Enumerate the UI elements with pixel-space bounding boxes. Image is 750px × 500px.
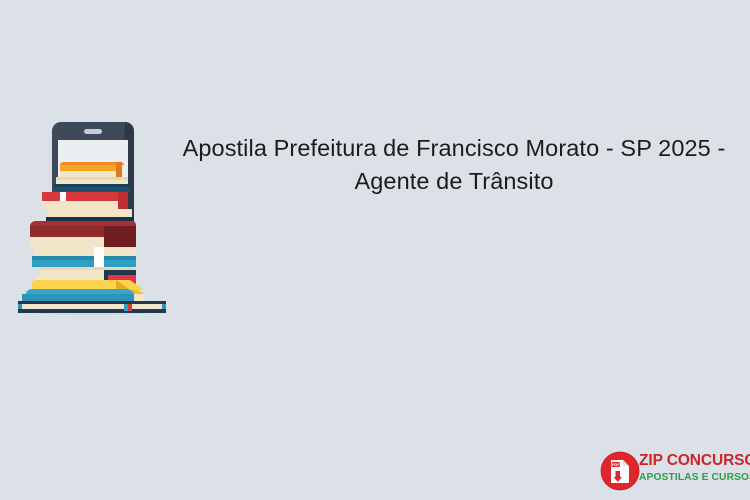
book-red-3 xyxy=(42,192,128,209)
logo-wordmark: ZIP CONCURSOS APOSTILAS E CURSOS xyxy=(639,452,745,484)
zip-concursos-logo[interactable]: PDF ZIP CONCURSOS APOSTILAS E CURSOS xyxy=(600,450,744,492)
pdf-download-icon: PDF xyxy=(600,451,640,491)
product-banner: Apostila Prefeitura de Francisco Morato … xyxy=(0,0,750,500)
book-blue-bottom xyxy=(18,289,166,313)
banner-title-block: Apostila Prefeitura de Francisco Morato … xyxy=(176,132,732,198)
logo-subtitle: APOSTILAS E CURSOS xyxy=(639,471,745,484)
stack-of-books-illustration xyxy=(8,118,176,318)
logo-title: ZIP CONCURSOS xyxy=(639,452,745,470)
svg-text:PDF: PDF xyxy=(612,462,620,467)
book-teal-6 xyxy=(32,247,136,267)
page-title: Apostila Prefeitura de Francisco Morato … xyxy=(176,132,732,198)
book-orange-top xyxy=(60,162,124,177)
books-tablet-graphic xyxy=(8,118,176,318)
book-darkred-5 xyxy=(30,221,136,247)
book-darkblue-2 xyxy=(54,177,130,192)
